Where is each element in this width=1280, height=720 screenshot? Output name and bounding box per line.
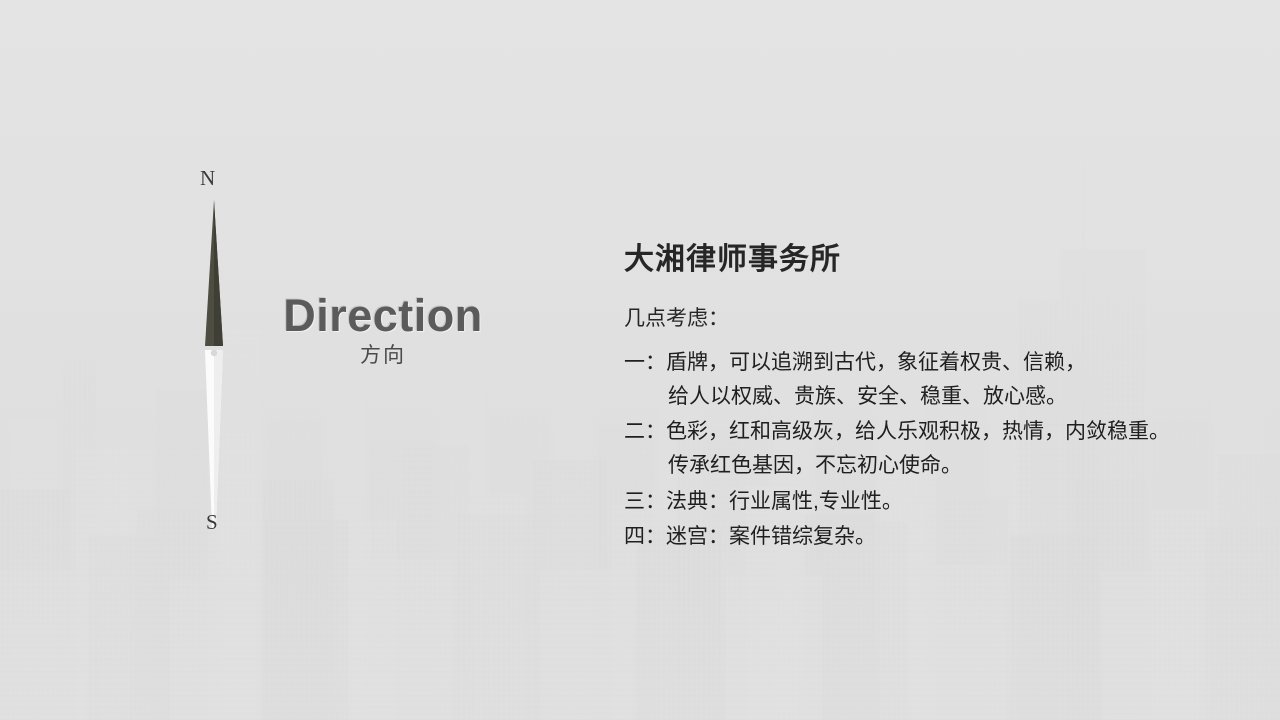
list-item: 三：法典：行业属性,专业性。	[624, 485, 1244, 519]
list-item-line-primary: 二：色彩，红和高级灰，给人乐观积极，热情，内敛稳重。	[624, 420, 1170, 443]
compass-north-needle-icon	[166, 200, 262, 350]
content-block: 大湘律师事务所 几点考虑： 一：盾牌，可以追溯到古代，象征着权贵、信赖， 给人以…	[624, 243, 1244, 556]
list-item-line-continued: 给人以权威、贵族、安全、稳重、放心感。	[624, 380, 1244, 414]
headline-chinese: 方向	[278, 343, 488, 368]
list-item: 四：迷宫：案件错综复杂。	[624, 520, 1244, 554]
presentation-slide: N S Direction 方向 大湘律师事务所 几点考虑： 一：盾牌，可以追溯…	[0, 0, 1280, 720]
compass-south-needle-icon	[166, 350, 262, 535]
content-lead: 几点考虑：	[624, 306, 1244, 332]
list-item: 二：色彩，红和高级灰，给人乐观积极，热情，内敛稳重。 传承红色基因，不忘初心使命…	[624, 415, 1244, 482]
page-title: 大湘律师事务所	[624, 243, 1244, 276]
compass-north-label: N	[200, 168, 215, 189]
list-item: 一：盾牌，可以追溯到古代，象征着权贵、信赖， 给人以权威、贵族、安全、稳重、放心…	[624, 346, 1244, 413]
list-item-line-primary: 四：迷宫：案件错综复杂。	[624, 525, 876, 548]
list-item-line-primary: 三：法典：行业属性,专业性。	[624, 490, 903, 513]
section-headline: Direction 方向	[278, 292, 488, 368]
compass-graphic: N S	[166, 160, 262, 550]
headline-english: Direction	[278, 292, 488, 339]
list-item-line-continued: 传承红色基因，不忘初心使命。	[624, 449, 1244, 483]
compass-south-label: S	[206, 512, 218, 533]
list-item-line-primary: 一：盾牌，可以追溯到古代，象征着权贵、信赖，	[624, 351, 1086, 374]
